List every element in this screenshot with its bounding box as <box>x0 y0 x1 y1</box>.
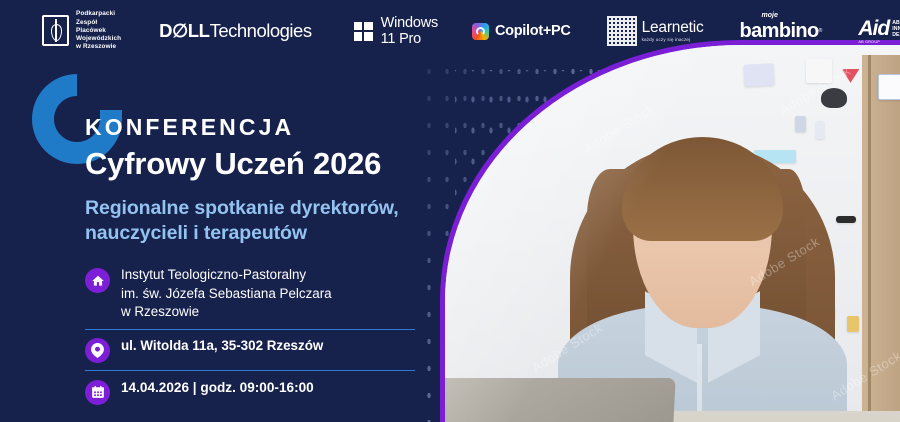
address-text: ul. Witolda 11a, 35-302 Rzeszów <box>121 337 323 356</box>
kicker-label: KONFERENCJA <box>85 114 470 141</box>
conference-banner: Adobe Stock Adobe Stock Adobe Stock Adob… <box>0 0 900 422</box>
logo-learnetic-name: Learnetic <box>642 19 704 36</box>
logo-bambino-name: bambino <box>740 20 819 43</box>
date-row: 14.04.2026 | godz. 09:00-16:00 <box>85 370 415 405</box>
logo-windows-label: Windows 11 Pro <box>381 15 438 47</box>
logo-aid-line3: DESIGNER <box>892 32 900 38</box>
photo-image: Adobe Stock Adobe Stock Adobe Stock Adob… <box>445 45 900 422</box>
subtitle-line1: Regionalne spotkanie dyrektorów, <box>85 196 470 221</box>
aid-logo-icon: Aid AB GROUP <box>858 18 889 44</box>
logo-pzpw-line1: Podkarpacki Zespół <box>76 10 121 26</box>
board-note <box>878 74 900 100</box>
date-text: 14.04.2026 | godz. 09:00-16:00 <box>121 379 314 398</box>
logo-pzpw-text: Podkarpacki Zespół Placówek Wojewódzkich… <box>76 10 121 51</box>
venue-line2: im. św. Józefa Sebastiana Pelczara <box>121 285 332 304</box>
logo-aid-lines: AB INNOVATION DESIGNER <box>892 18 900 38</box>
event-details: Instytut Teologiczno-Pastoralny im. św. … <box>85 266 415 405</box>
dell-laptop <box>445 378 675 422</box>
venue-line3: w Rzeszowie <box>121 303 332 322</box>
logo-dell-technologies: Technologies <box>210 20 312 42</box>
calendar-icon <box>85 380 110 405</box>
hero-content: KONFERENCJA Cyfrowy Uczeń 2026 Regionaln… <box>0 58 470 405</box>
partner-logo-strip: Podkarpacki Zespół Placówek Wojewódzkich… <box>0 0 900 62</box>
windows-logo-icon <box>354 22 373 41</box>
hero-photo: Adobe Stock Adobe Stock Adobe Stock Adob… <box>480 58 900 422</box>
board-note <box>847 316 859 332</box>
logo-pzpw: Podkarpacki Zespół Placówek Wojewódzkich… <box>42 10 121 51</box>
learnetic-qr-icon <box>607 16 637 46</box>
logo-learnetic-tagline: każdy uczy się inaczej <box>642 38 704 43</box>
logo-dell-word: D∅LL <box>159 20 209 42</box>
venue-row: Instytut Teologiczno-Pastoralny im. św. … <box>85 266 415 329</box>
logo-aid: Aid AB GROUP AB INNOVATION DESIGNER <box>858 18 900 44</box>
home-icon <box>85 268 110 293</box>
logo-dell: D∅LL Technologies <box>159 20 311 42</box>
board-note <box>806 59 832 83</box>
location-pin-icon <box>85 338 110 363</box>
logo-aid-sub: AB GROUP <box>858 40 889 44</box>
board-lamp <box>821 88 847 108</box>
logo-pzpw-line3: w Rzeszowie <box>76 43 121 51</box>
board-note <box>743 63 774 87</box>
venue-text: Instytut Teologiczno-Pastoralny im. św. … <box>121 266 332 322</box>
page-title: Cyfrowy Uczeń 2026 <box>85 146 470 182</box>
person-teacher <box>558 121 846 422</box>
logo-pzpw-line2: Placówek Wojewódzkich <box>76 27 121 43</box>
venue-line1: Instytut Teologiczno-Pastoralny <box>121 266 332 285</box>
logo-windows: Windows 11 Pro <box>354 15 438 47</box>
hair-top <box>622 137 783 241</box>
logo-learnetic: Learnetic każdy uczy się inaczej <box>607 16 704 46</box>
open-book-icon <box>42 15 69 46</box>
wooden-cabinet <box>862 55 900 422</box>
copilot-logo-icon <box>472 23 489 40</box>
logo-copilot-label: Copilot+PC <box>495 23 571 39</box>
logo-bambino-moje: moje <box>762 12 778 19</box>
logo-bambino-registered: ® <box>819 28 823 34</box>
subtitle: Regionalne spotkanie dyrektorów, nauczyc… <box>85 196 470 246</box>
logo-aid-word: Aid <box>858 18 889 39</box>
logo-learnetic-text: Learnetic każdy uczy się inaczej <box>642 20 704 43</box>
address-row: ul. Witolda 11a, 35-302 Rzeszów <box>85 329 415 370</box>
photo-purple-arc: Adobe Stock Adobe Stock Adobe Stock Adob… <box>440 40 900 422</box>
subtitle-line2: nauczycieli i terapeutów <box>85 221 470 246</box>
logo-bambino: moje bambino ® <box>740 20 823 43</box>
logo-copilot: Copilot+PC <box>472 23 571 40</box>
classroom-scene: Adobe Stock Adobe Stock Adobe Stock Adob… <box>445 45 900 422</box>
